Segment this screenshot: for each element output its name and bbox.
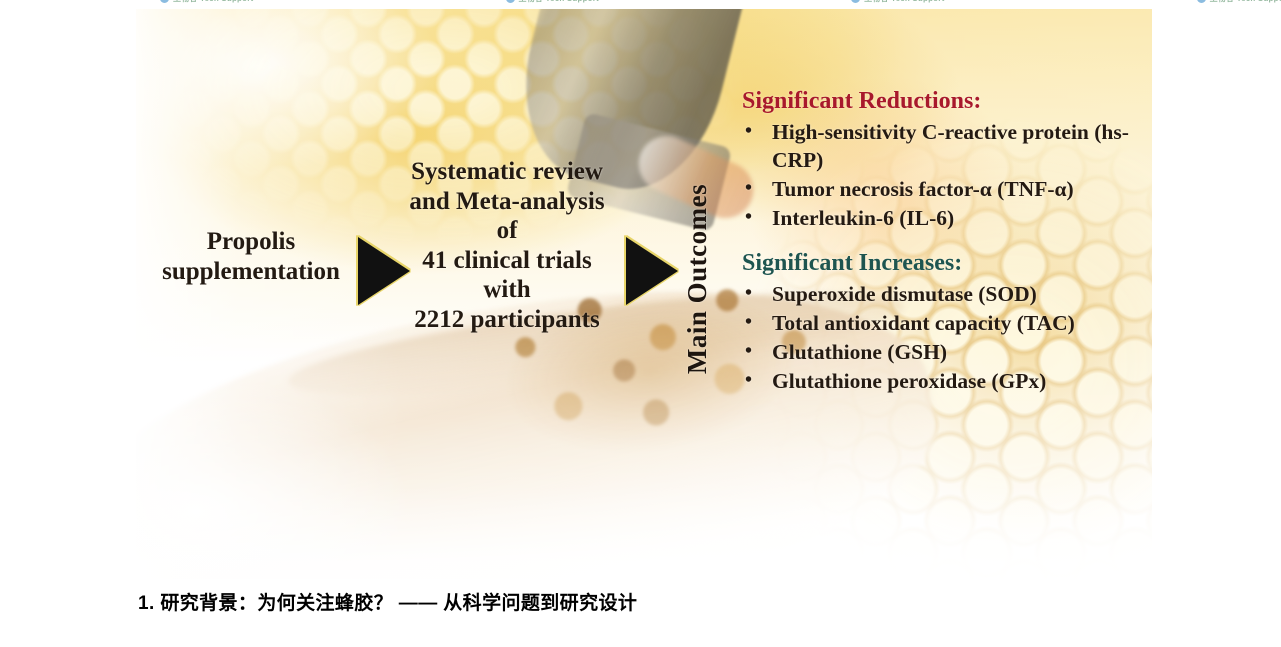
outcome-title: Significant Increases: <box>742 249 1152 278</box>
watermark-item: 生物谷 Tech Support <box>1197 0 1281 4</box>
watermark-label: 生物谷 Tech Support <box>1210 0 1281 4</box>
outcome-item: Interleukin-6 (IL-6) <box>732 205 1152 233</box>
outcome-list-increases: Superoxide dismutase (SOD) Total antioxi… <box>732 281 1152 396</box>
outcome-item: Tumor necrosis factor-α (TNF-α) <box>732 176 1152 204</box>
circle-logo-icon <box>506 0 515 3</box>
outcome-item: High-sensitivity C-reactive protein (hs-… <box>732 119 1152 175</box>
watermark-strip: 生物谷 Tech Support 生物谷 Tech Support 生物谷 Te… <box>0 0 1281 9</box>
right-arrow-icon-2 <box>626 237 678 305</box>
outcomes-panel: Significant Reductions: High-sensitivity… <box>732 87 1152 412</box>
outcome-item: Total antioxidant capacity (TAC) <box>732 310 1152 338</box>
flow-diagram: Propolissupplementation Systematic revie… <box>136 9 1152 579</box>
outcome-list-reductions: High-sensitivity C-reactive protein (hs-… <box>732 119 1152 233</box>
circle-logo-icon <box>1197 0 1206 3</box>
watermark-label: 生物谷 Tech Support <box>519 0 599 4</box>
watermark-label: 生物谷 Tech Support <box>864 0 944 4</box>
watermark-item: 生物谷 Tech Support <box>851 0 944 4</box>
watermark-label: 生物谷 Tech Support <box>173 0 253 4</box>
flow-stage-method: Systematic reviewand Meta-analysisof41 c… <box>386 157 628 334</box>
watermark-row: 生物谷 Tech Support 生物谷 Tech Support 生物谷 Te… <box>160 0 1281 4</box>
watermark-item: 生物谷 Tech Support <box>506 0 599 4</box>
circle-logo-icon <box>851 0 860 3</box>
main-outcomes-label: Main Outcomes <box>682 164 716 394</box>
outcome-item: Glutathione peroxidase (GPx) <box>732 368 1152 396</box>
outcome-item: Superoxide dismutase (SOD) <box>732 281 1152 309</box>
outcome-block-increases: Significant Increases: Superoxide dismut… <box>732 249 1152 396</box>
graphical-abstract-image: Propolissupplementation Systematic revie… <box>136 9 1152 579</box>
slide-caption: 1. 研究背景：为何关注蜂胶？ —— 从科学问题到研究设计 <box>138 588 637 615</box>
outcome-item: Glutathione (GSH) <box>732 339 1152 367</box>
outcome-title: Significant Reductions: <box>742 87 1152 116</box>
circle-logo-icon <box>160 0 169 3</box>
watermark-item: 生物谷 Tech Support <box>160 0 253 4</box>
outcome-block-reductions: Significant Reductions: High-sensitivity… <box>732 87 1152 233</box>
flow-stage-input: Propolissupplementation <box>138 227 364 286</box>
